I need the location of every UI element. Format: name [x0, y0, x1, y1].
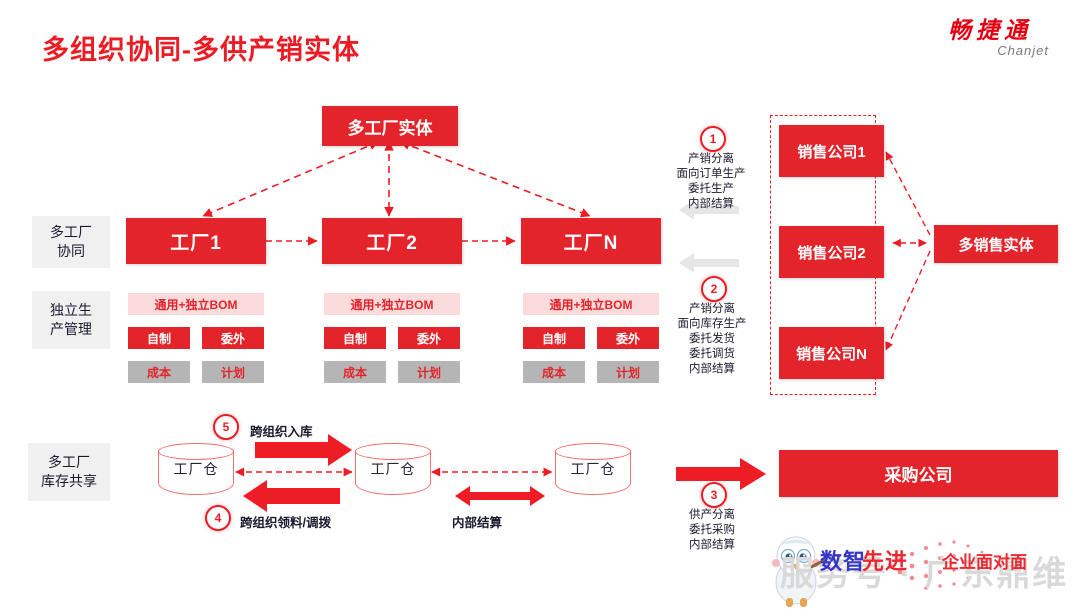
outsourced-label: 委外 [616, 330, 640, 347]
annotation-number-3: 3 [701, 482, 727, 508]
warehouse-cylinder-3[interactable]: 工厂仓 [555, 443, 631, 501]
plan-label: 计划 [221, 364, 245, 381]
watermark-box-text: 企业面对面 [942, 548, 1027, 573]
self-made-block-factory-2[interactable]: 自制 [324, 327, 386, 349]
purchase-company-box[interactable]: 采购公司 [779, 450, 1058, 497]
annotation-line: 内部结算 [671, 362, 753, 377]
self-made-label: 自制 [147, 330, 171, 347]
flow-number-label: 4 [215, 511, 222, 525]
annotation-text-1: 产销分离 面向订单生产 委托生产 内部结算 [670, 152, 752, 212]
flow-label-inbound: 跨组织入库 [250, 421, 313, 440]
annotation-line: 委托发货 [671, 332, 753, 347]
self-made-block-factory-n[interactable]: 自制 [523, 327, 585, 349]
sales-company-label: 销售公司2 [797, 242, 865, 263]
cylinder-top [355, 443, 431, 460]
flow-label-settlement: 内部结算 [452, 512, 502, 531]
row-label-multi-factory-collab: 多工厂 协同 [32, 216, 110, 268]
row-label-independent-production: 独立生 产管理 [32, 291, 110, 349]
chanjet-logo: 畅捷通 Chanjet [925, 18, 1055, 64]
flow-number-4: 4 [205, 505, 231, 531]
annotation-line: 产销分离 [671, 302, 753, 317]
cylinder-top [158, 443, 234, 460]
factory-label: 工厂N [564, 228, 619, 255]
self-made-label: 自制 [343, 330, 367, 347]
row-label-line-1: 多工厂 [41, 453, 97, 472]
watermark-red-text: 先进 [862, 544, 908, 576]
cost-block-factory-n[interactable]: 成本 [523, 361, 585, 383]
plan-block-factory-n[interactable]: 计划 [597, 361, 659, 383]
sales-company-box-2[interactable]: 销售公司2 [779, 226, 884, 278]
bom-block-factory-1[interactable]: 通用+独立BOM [128, 293, 264, 315]
warehouse-cylinder-1[interactable]: 工厂仓 [158, 443, 234, 501]
plan-label: 计划 [616, 364, 640, 381]
warehouse-label: 工厂仓 [355, 459, 431, 479]
warehouse-label: 工厂仓 [158, 459, 234, 479]
annotation-number-2: 2 [701, 276, 727, 302]
annotation-line: 内部结算 [671, 538, 753, 553]
annotation-number-1: 1 [700, 126, 726, 152]
cylinder-top [555, 443, 631, 460]
plan-label: 计划 [417, 364, 441, 381]
plan-block-factory-1[interactable]: 计划 [202, 361, 264, 383]
cost-label: 成本 [343, 364, 367, 381]
flow-number-label: 5 [223, 420, 230, 434]
annotation-text-3: 供产分离 委托采购 内部结算 [671, 508, 753, 553]
factory-label: 工厂1 [170, 228, 222, 255]
multi-factory-entity-label: 多工厂实体 [348, 114, 433, 139]
watermark: 服务号 · 广东鼎维 数智 先进 企业面对面 [762, 524, 1080, 612]
purchase-company-label: 采购公司 [885, 461, 953, 486]
sales-company-label: 销售公司N [796, 343, 867, 364]
bom-label: 通用+独立BOM [154, 296, 237, 313]
slide-canvas: 多组织协同-多供产销实体 畅捷通 Chanjet [0, 0, 1080, 612]
annotation-number-label: 2 [711, 282, 718, 296]
bom-block-factory-n[interactable]: 通用+独立BOM [523, 293, 659, 315]
flow-label-outbound: 跨组织领料/调拨 [240, 512, 331, 531]
sales-company-label: 销售公司1 [797, 141, 865, 162]
outsourced-label: 委外 [221, 330, 245, 347]
bom-label: 通用+独立BOM [549, 296, 632, 313]
bom-block-factory-2[interactable]: 通用+独立BOM [324, 293, 460, 315]
row-label-line-1: 独立生 [50, 301, 92, 320]
row-label-inventory-sharing: 多工厂 库存共享 [28, 443, 110, 501]
watermark-blue-text: 数智 [820, 544, 866, 576]
row-label-line-2: 协同 [50, 242, 92, 261]
warehouse-label: 工厂仓 [555, 459, 631, 479]
annotation-line: 委托生产 [670, 182, 752, 197]
self-made-block-factory-1[interactable]: 自制 [128, 327, 190, 349]
plan-block-factory-2[interactable]: 计划 [398, 361, 460, 383]
row-label-line-1: 多工厂 [50, 223, 92, 242]
outsourced-block-factory-n[interactable]: 委外 [597, 327, 659, 349]
cost-label: 成本 [147, 364, 171, 381]
annotation-line: 委托调货 [671, 347, 753, 362]
warehouse-cylinder-2[interactable]: 工厂仓 [355, 443, 431, 501]
self-made-label: 自制 [542, 330, 566, 347]
annotation-number-label: 3 [711, 488, 718, 502]
factory-box-n[interactable]: 工厂N [521, 218, 661, 264]
factory-box-1[interactable]: 工厂1 [126, 218, 266, 264]
page-title: 多组织协同-多供产销实体 [42, 28, 360, 67]
bom-label: 通用+独立BOM [350, 296, 433, 313]
logo-en-text: Chanjet [925, 43, 1055, 58]
row-label-line-2: 库存共享 [41, 472, 97, 491]
logo-cn-text: 畅捷通 [925, 18, 1055, 43]
factory-label: 工厂2 [366, 228, 418, 255]
multi-sales-entity-box[interactable]: 多销售实体 [934, 225, 1058, 263]
annotation-line: 委托采购 [671, 523, 753, 538]
multi-sales-entity-label: 多销售实体 [958, 234, 1033, 255]
sales-company-box-1[interactable]: 销售公司1 [779, 125, 884, 177]
flow-number-5: 5 [213, 414, 239, 440]
multi-factory-entity-box[interactable]: 多工厂实体 [322, 106, 458, 146]
row-label-line-2: 产管理 [50, 320, 92, 339]
outsourced-label: 委外 [417, 330, 441, 347]
annotation-line: 面向订单生产 [670, 167, 752, 182]
factory-box-2[interactable]: 工厂2 [322, 218, 462, 264]
cost-label: 成本 [542, 364, 566, 381]
cost-block-factory-1[interactable]: 成本 [128, 361, 190, 383]
outsourced-block-factory-2[interactable]: 委外 [398, 327, 460, 349]
outsourced-block-factory-1[interactable]: 委外 [202, 327, 264, 349]
annotation-line: 内部结算 [670, 197, 752, 212]
annotation-line: 供产分离 [671, 508, 753, 523]
annotation-line: 面向库存生产 [671, 317, 753, 332]
annotation-line: 产销分离 [670, 152, 752, 167]
sales-company-box-n[interactable]: 销售公司N [779, 327, 884, 379]
cost-block-factory-2[interactable]: 成本 [324, 361, 386, 383]
annotation-number-label: 1 [710, 132, 717, 146]
annotation-text-2: 产销分离 面向库存生产 委托发货 委托调货 内部结算 [671, 302, 753, 377]
